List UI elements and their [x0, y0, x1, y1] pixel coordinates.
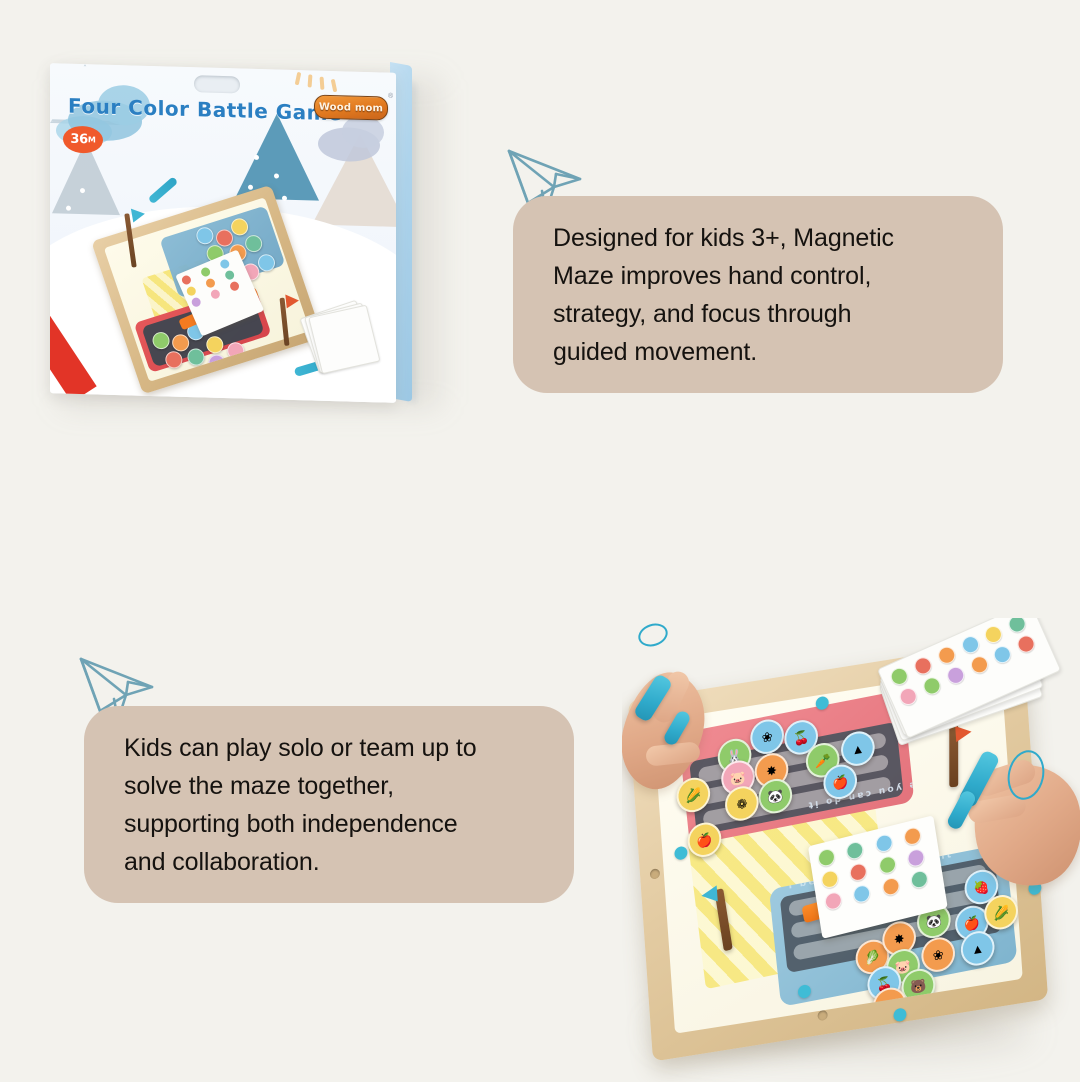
mountain-dot-icon — [282, 196, 287, 201]
box-art-flag-icon — [131, 207, 146, 223]
feature-bubble-1-text: Designed for kids 3+, Magnetic Maze impr… — [553, 219, 894, 371]
product-photo-in-use: I believe you can do it 🐰 ❀ 🍒 🐷 ✸ 🥕 ▲ 🐼 … — [622, 618, 1080, 1082]
hang-hole-icon — [194, 75, 240, 93]
product-box: Four Color Battle Game 36M Wood mom ® Pu… — [50, 60, 436, 405]
flag-icon — [701, 885, 718, 904]
page-root: Four Color Battle Game 36M Wood mom ® Pu… — [0, 0, 1080, 1080]
registered-mark-icon: ® — [388, 93, 393, 100]
mountain-dot-icon — [66, 206, 71, 211]
track-pink: I believe you can do it — [678, 690, 914, 845]
brand-logo-label: Wood mom — [319, 101, 383, 114]
box-art-flag-icon — [285, 293, 299, 308]
age-badge-number: 36 — [70, 132, 88, 147]
feature-bubble-2-text: Kids can play solo or team up to solve t… — [124, 729, 477, 881]
age-badge: 36M — [63, 126, 103, 154]
mountain-dot-icon — [248, 185, 253, 190]
age-badge-unit: M — [88, 135, 96, 144]
mountain-dot-icon — [80, 188, 85, 193]
mountain-dot-icon — [274, 173, 279, 178]
mountain-dot-icon — [254, 155, 259, 160]
wood-mom-logo-icon: Wood mom — [314, 95, 388, 121]
feature-bubble-2: Kids can play solo or team up to solve t… — [84, 706, 574, 903]
box-front-face: Four Color Battle Game 36M Wood mom ® Pu… — [50, 63, 396, 403]
sun-ray-icon — [320, 77, 325, 90]
feature-bubble-1: Designed for kids 3+, Magnetic Maze impr… — [513, 196, 1003, 393]
